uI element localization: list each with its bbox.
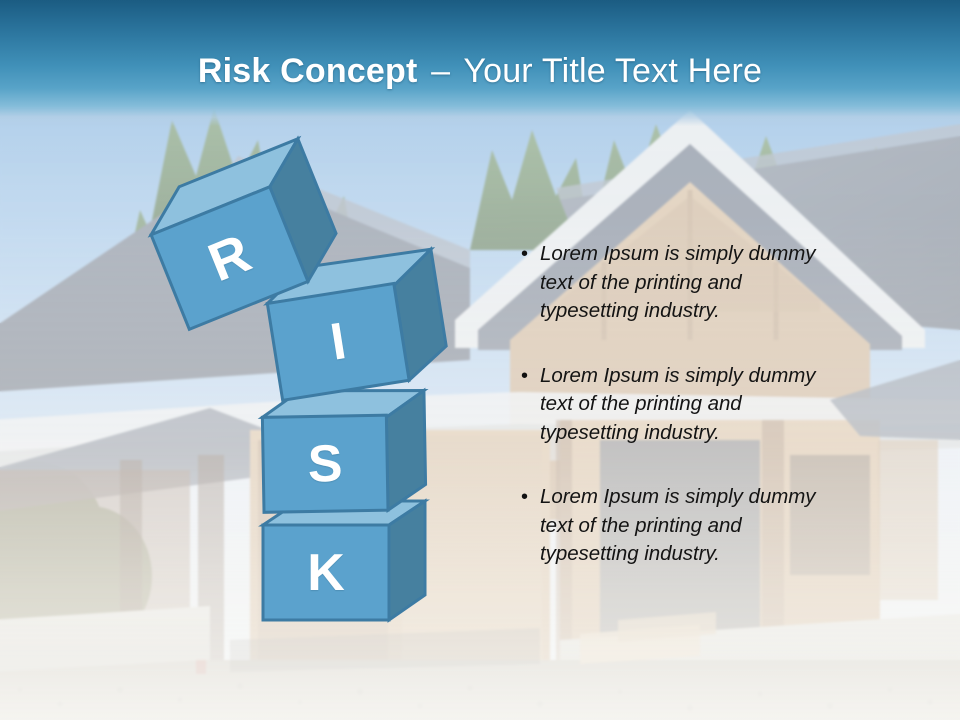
slide-canvas: Risk Concept – Your Title Text Here K [0,0,960,720]
bullet-marker-icon: • [512,362,540,448]
bullet-list: • Lorem Ipsum is simply dummy text of th… [512,240,842,569]
bullet-marker-icon: • [512,240,540,326]
list-item: • Lorem Ipsum is simply dummy text of th… [512,483,842,569]
bullet-marker-icon: • [512,483,540,569]
bullet-text: Lorem Ipsum is simply dummy text of the … [540,240,842,326]
bullet-text: Lorem Ipsum is simply dummy text of the … [540,483,842,569]
list-item: • Lorem Ipsum is simply dummy text of th… [512,362,842,448]
list-item: • Lorem Ipsum is simply dummy text of th… [512,240,842,326]
bullet-text: Lorem Ipsum is simply dummy text of the … [540,362,842,448]
